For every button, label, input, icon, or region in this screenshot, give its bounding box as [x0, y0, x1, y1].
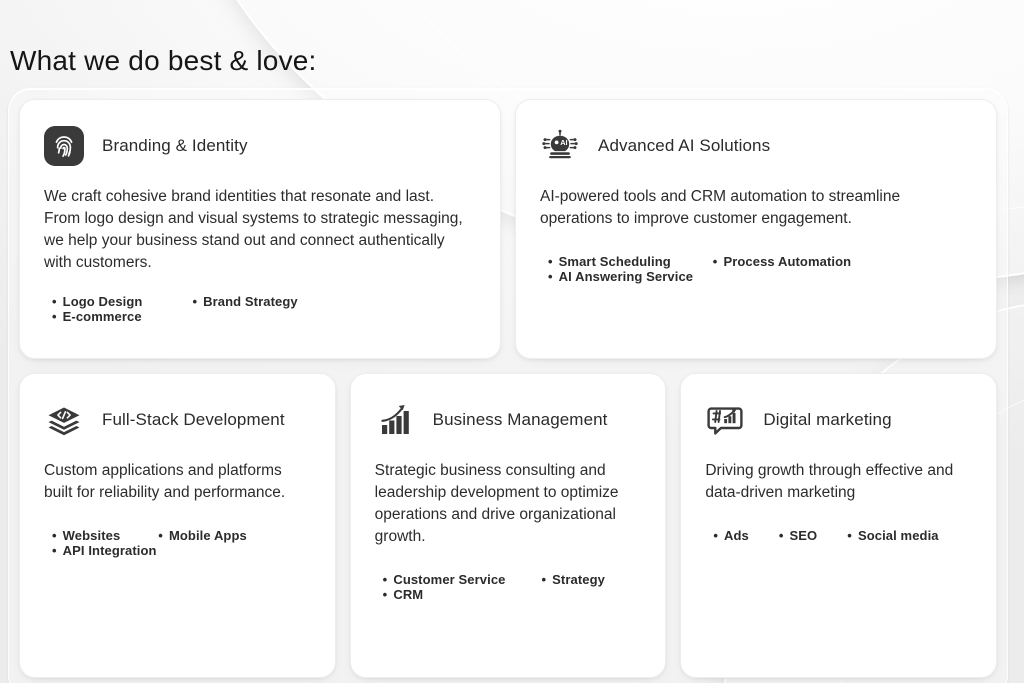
card-tag-list: •Websites •Mobile Apps •API Integration — [44, 528, 319, 558]
services-row-top: Branding & Identity We craft cohesive br… — [19, 99, 997, 359]
card-tag-label: Customer Service — [393, 572, 505, 587]
card-title: Branding & Identity — [102, 135, 248, 156]
bullet-icon: • — [548, 269, 553, 284]
card-header: AI Advanced AI Solution — [540, 126, 972, 166]
bullet-icon: • — [713, 528, 718, 543]
bullet-icon: • — [192, 294, 197, 309]
card-tag-label: Smart Scheduling — [559, 254, 671, 269]
bar-chart-growth-icon — [375, 400, 415, 440]
card-header: Digital marketing — [705, 400, 972, 440]
bullet-icon: • — [541, 572, 546, 587]
card-tag[interactable]: •Customer Service — [383, 572, 506, 587]
bullet-icon: • — [383, 572, 388, 587]
card-tag[interactable]: •Mobile Apps — [158, 528, 247, 543]
card-title: Advanced AI Solutions — [598, 135, 770, 156]
card-tag-label: AI Answering Service — [559, 269, 693, 284]
card-description: Strategic business consulting and leader… — [375, 460, 642, 548]
services-grid: Branding & Identity We craft cohesive br… — [8, 88, 1008, 683]
card-title: Full-Stack Development — [102, 409, 285, 430]
card-header: Branding & Identity — [44, 126, 476, 166]
card-description: AI-powered tools and CRM automation to s… — [540, 186, 960, 230]
card-tag-label: Strategy — [552, 572, 605, 587]
bullet-icon: • — [548, 254, 553, 269]
card-tag-label: SEO — [790, 528, 818, 543]
service-card-branding[interactable]: Branding & Identity We craft cohesive br… — [19, 99, 501, 359]
card-tag-label: Process Automation — [723, 254, 851, 269]
card-tag[interactable]: •Strategy — [541, 572, 604, 587]
code-layers-icon — [44, 400, 84, 440]
bullet-icon: • — [383, 587, 388, 602]
card-tag-label: E-commerce — [63, 309, 142, 324]
service-card-full-stack-development[interactable]: Full-Stack Development Custom applicatio… — [19, 373, 336, 678]
bullet-icon: • — [847, 528, 852, 543]
fingerprint-icon — [44, 126, 84, 166]
card-tag-list: •Ads •SEO •Social media — [705, 528, 980, 543]
ai-robot-icon: AI — [540, 126, 580, 166]
card-tag[interactable]: •Logo Design — [52, 294, 142, 309]
card-tag[interactable]: •Brand Strategy — [192, 294, 297, 309]
card-header: Business Management — [375, 400, 642, 440]
bullet-icon: • — [52, 543, 57, 558]
card-tag-list: •Smart Scheduling •Process Automation •A… — [540, 254, 980, 284]
card-tag[interactable]: •Ads — [713, 528, 749, 543]
services-row-bottom: Full-Stack Development Custom applicatio… — [19, 373, 997, 678]
bullet-icon: • — [52, 528, 57, 543]
card-tag[interactable]: •SEO — [779, 528, 817, 543]
card-tag[interactable]: •API Integration — [52, 543, 157, 558]
card-tag[interactable]: •CRM — [383, 587, 424, 602]
card-tag[interactable]: •Websites — [52, 528, 120, 543]
svg-text:AI: AI — [560, 138, 567, 147]
service-card-advanced-ai[interactable]: AI Advanced AI Solution — [515, 99, 997, 359]
card-description: Custom applications and platforms built … — [44, 460, 304, 504]
card-tag[interactable]: •Social media — [847, 528, 938, 543]
card-tag-label: CRM — [393, 587, 423, 602]
card-tag-list: •Customer Service •Strategy •CRM — [375, 572, 650, 602]
card-description: We craft cohesive brand identities that … — [44, 186, 464, 274]
card-tag-label: API Integration — [63, 543, 157, 558]
marketing-bubble-chart-icon — [705, 400, 745, 440]
card-tag-label: Mobile Apps — [169, 528, 247, 543]
service-card-business-management[interactable]: Business Management Strategic business c… — [350, 373, 667, 678]
service-card-digital-marketing[interactable]: Digital marketing Driving growth through… — [680, 373, 997, 678]
page-root: What we do best & love: — [0, 0, 1024, 683]
card-tag[interactable]: •E-commerce — [52, 309, 142, 324]
bullet-icon: • — [52, 294, 57, 309]
bullet-icon: • — [158, 528, 163, 543]
card-description: Driving growth through effective and dat… — [705, 460, 967, 504]
card-tag-list: •Logo Design •Brand Strategy •E-commerce — [44, 294, 476, 324]
card-title: Business Management — [433, 409, 608, 430]
card-tag[interactable]: •Process Automation — [713, 254, 851, 269]
card-tag-label: Logo Design — [63, 294, 143, 309]
card-tag-label: Websites — [63, 528, 121, 543]
card-title: Digital marketing — [763, 409, 891, 430]
card-tag-label: Brand Strategy — [203, 294, 298, 309]
bullet-icon: • — [779, 528, 784, 543]
card-tag[interactable]: •Smart Scheduling — [548, 254, 671, 269]
bullet-icon: • — [52, 309, 57, 324]
card-tag[interactable]: •AI Answering Service — [548, 269, 693, 284]
card-header: Full-Stack Development — [44, 400, 311, 440]
card-tag-label: Ads — [724, 528, 749, 543]
page-title: What we do best & love: — [10, 44, 317, 78]
card-tag-label: Social media — [858, 528, 939, 543]
bullet-icon: • — [713, 254, 718, 269]
